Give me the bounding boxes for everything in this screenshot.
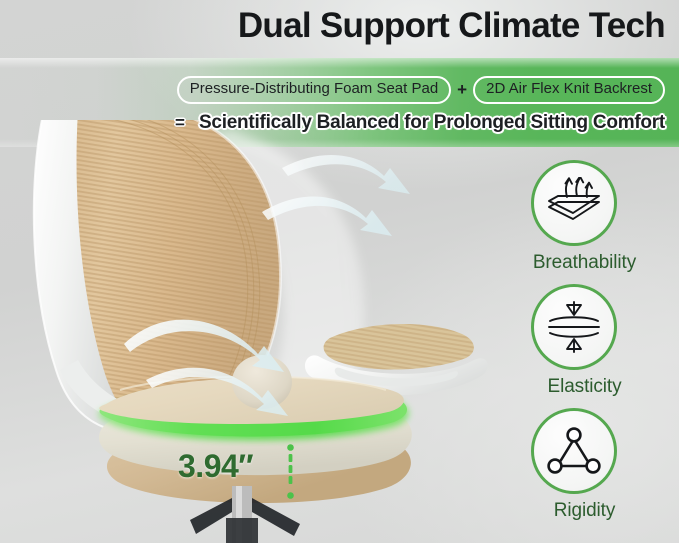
vertical-dashed-dimension-icon	[287, 444, 294, 500]
formula-result-text: Scientifically Balanced for Prolonged Si…	[199, 112, 665, 134]
product-infographic: Dual Support Climate Tech Pressure-Distr…	[0, 0, 679, 543]
pill-foam-seat-pad: Pressure-Distributing Foam Seat Pad	[177, 76, 451, 104]
feature-list: Breathability	[497, 160, 672, 528]
pill-knit-backrest: 2D Air Flex Knit Backrest	[473, 76, 665, 104]
seat-thickness-value: 3.94″	[178, 448, 253, 485]
feature-breathability: Breathability	[497, 160, 672, 284]
triangular-truss-nodes-icon	[531, 408, 617, 494]
feature-elasticity: Elasticity	[497, 284, 672, 408]
page-title: Dual Support Climate Tech	[0, 6, 665, 46]
feature-label-breathability: Breathability	[497, 252, 672, 274]
formula-row-components: Pressure-Distributing Foam Seat Pad + 2D…	[0, 76, 665, 104]
equals-operator: =	[175, 113, 185, 133]
band-top-fade	[0, 58, 679, 68]
layered-fabric-airflow-arrows-icon	[531, 160, 617, 246]
feature-label-elasticity: Elasticity	[497, 376, 672, 398]
feature-rigidity: Rigidity	[497, 408, 672, 528]
formula-row-result: = Scientifically Balanced for Prolonged …	[0, 112, 665, 134]
compression-arrows-flex-lines-icon	[531, 284, 617, 370]
plus-operator: +	[455, 80, 469, 100]
feature-label-rigidity: Rigidity	[497, 500, 672, 522]
